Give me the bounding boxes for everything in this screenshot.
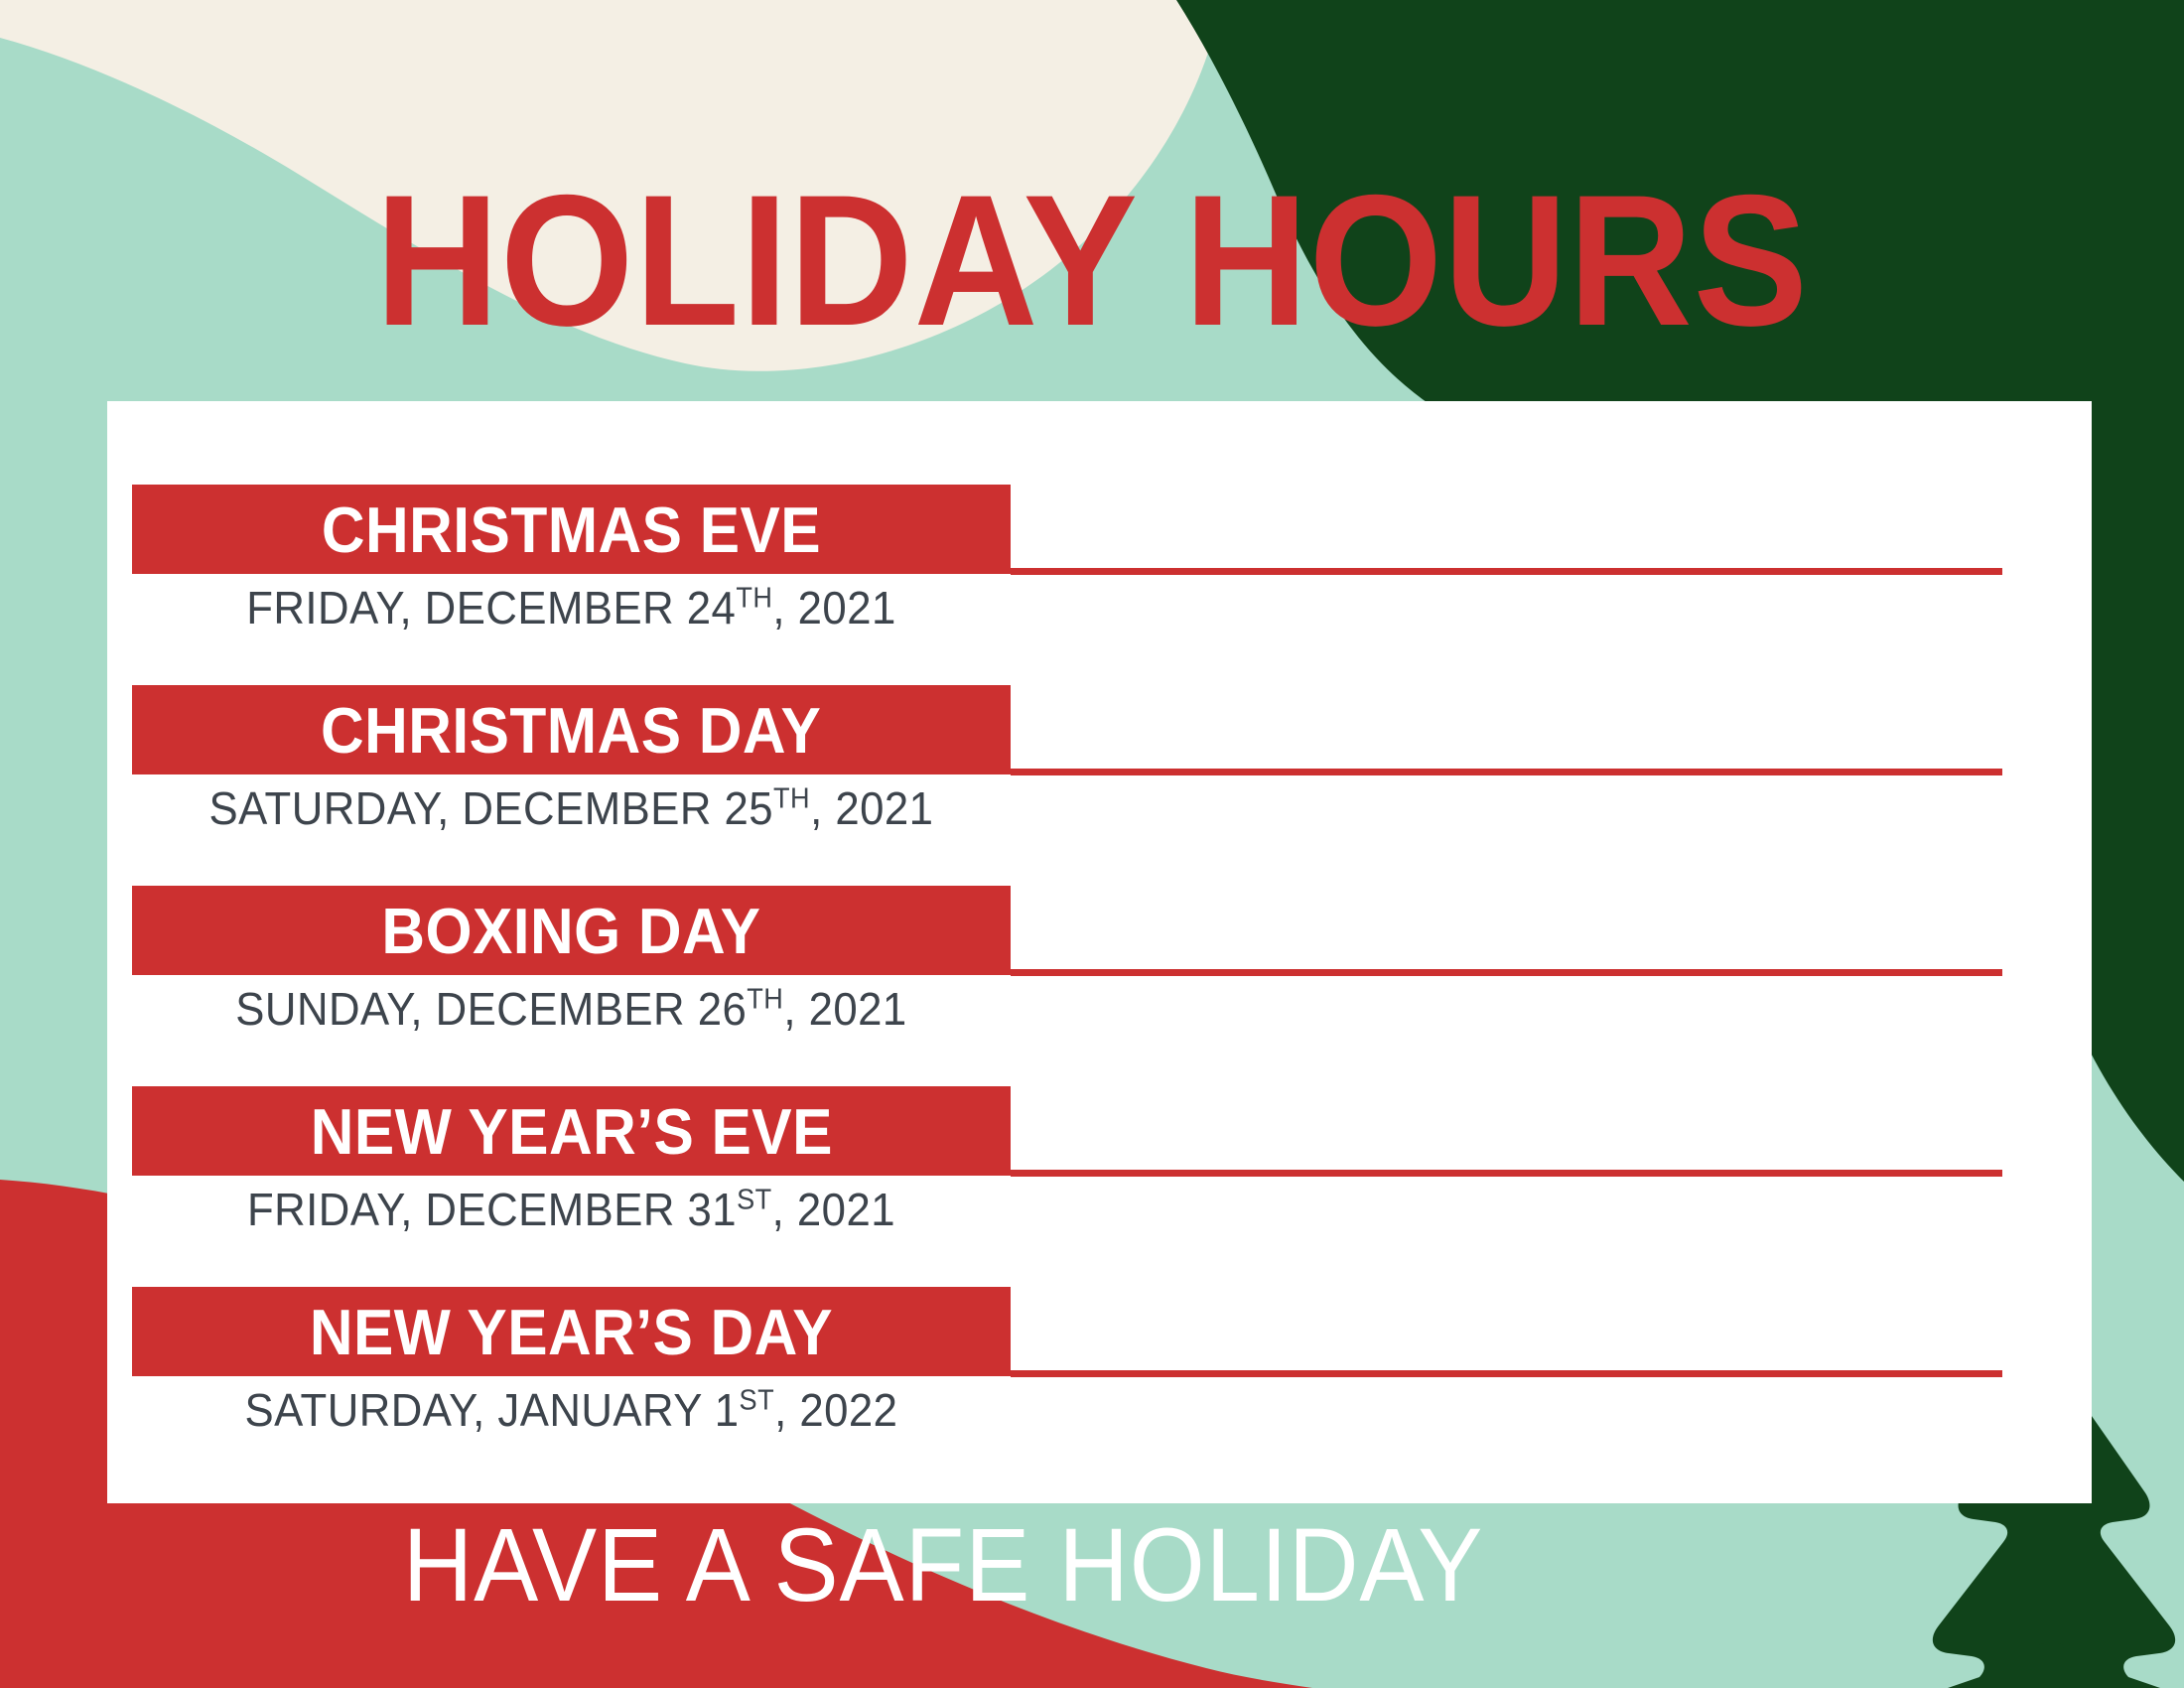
holiday-date-suffix: , 2022 — [774, 1384, 897, 1436]
holiday-date-suffix: , 2021 — [772, 582, 895, 633]
hours-write-in-rule — [1011, 1370, 2002, 1377]
holiday-date-prefix: FRIDAY, DECEMBER 24 — [246, 582, 736, 633]
holiday-date-ordinal: ST — [737, 1185, 772, 1216]
holiday-hours-poster: HOLIDAY HOURS CHRISTMAS EVE FRIDAY, DECE… — [0, 0, 2184, 1688]
schedule-rows: CHRISTMAS EVE FRIDAY, DECEMBER 24TH, 202… — [107, 401, 2092, 1503]
footer-message: HAVE A SAFE HOLIDAY — [67, 1513, 1821, 1618]
page-title: HOLIDAY HOURS — [87, 167, 2097, 353]
holiday-date-prefix: SUNDAY, DECEMBER 26 — [235, 983, 747, 1035]
holiday-date: SATURDAY, JANUARY 1ST, 2022 — [154, 1384, 989, 1437]
hours-write-in-rule — [1011, 1170, 2002, 1177]
holiday-date-suffix: , 2021 — [783, 983, 906, 1035]
holiday-date-ordinal: TH — [747, 984, 783, 1016]
holiday-date: SATURDAY, DECEMBER 25TH, 2021 — [154, 782, 989, 835]
holiday-date-suffix: , 2021 — [772, 1184, 895, 1235]
holiday-date: FRIDAY, DECEMBER 31ST, 2021 — [154, 1184, 989, 1236]
holiday-date-ordinal: ST — [740, 1385, 775, 1417]
holiday-label: BOXING DAY — [382, 899, 761, 963]
holiday-label: NEW YEAR’S EVE — [310, 1099, 832, 1164]
holiday-date-prefix: FRIDAY, DECEMBER 31 — [247, 1184, 737, 1235]
holiday-date: FRIDAY, DECEMBER 24TH, 2021 — [154, 582, 989, 634]
hours-write-in-rule — [1011, 568, 2002, 575]
holiday-label: NEW YEAR’S DAY — [310, 1300, 833, 1364]
hours-write-in-rule — [1011, 969, 2002, 976]
holiday-date-prefix: SATURDAY, JANUARY 1 — [245, 1384, 740, 1436]
schedule-card: CHRISTMAS EVE FRIDAY, DECEMBER 24TH, 202… — [107, 401, 2092, 1503]
holiday-label-band: CHRISTMAS EVE — [132, 485, 1011, 574]
holiday-date-suffix: , 2021 — [810, 782, 933, 834]
holiday-date-ordinal: TH — [773, 783, 810, 815]
holiday-label-band: CHRISTMAS DAY — [132, 685, 1011, 774]
holiday-label-band: NEW YEAR’S EVE — [132, 1086, 1011, 1176]
hours-write-in-rule — [1011, 769, 2002, 775]
holiday-label: CHRISTMAS EVE — [322, 497, 821, 562]
holiday-date-prefix: SATURDAY, DECEMBER 25 — [209, 782, 774, 834]
holiday-label-band: NEW YEAR’S DAY — [132, 1287, 1011, 1376]
holiday-date-ordinal: TH — [736, 583, 772, 615]
holiday-date: SUNDAY, DECEMBER 26TH, 2021 — [154, 983, 989, 1036]
holiday-label-band: BOXING DAY — [132, 886, 1011, 975]
holiday-label: CHRISTMAS DAY — [321, 698, 821, 763]
